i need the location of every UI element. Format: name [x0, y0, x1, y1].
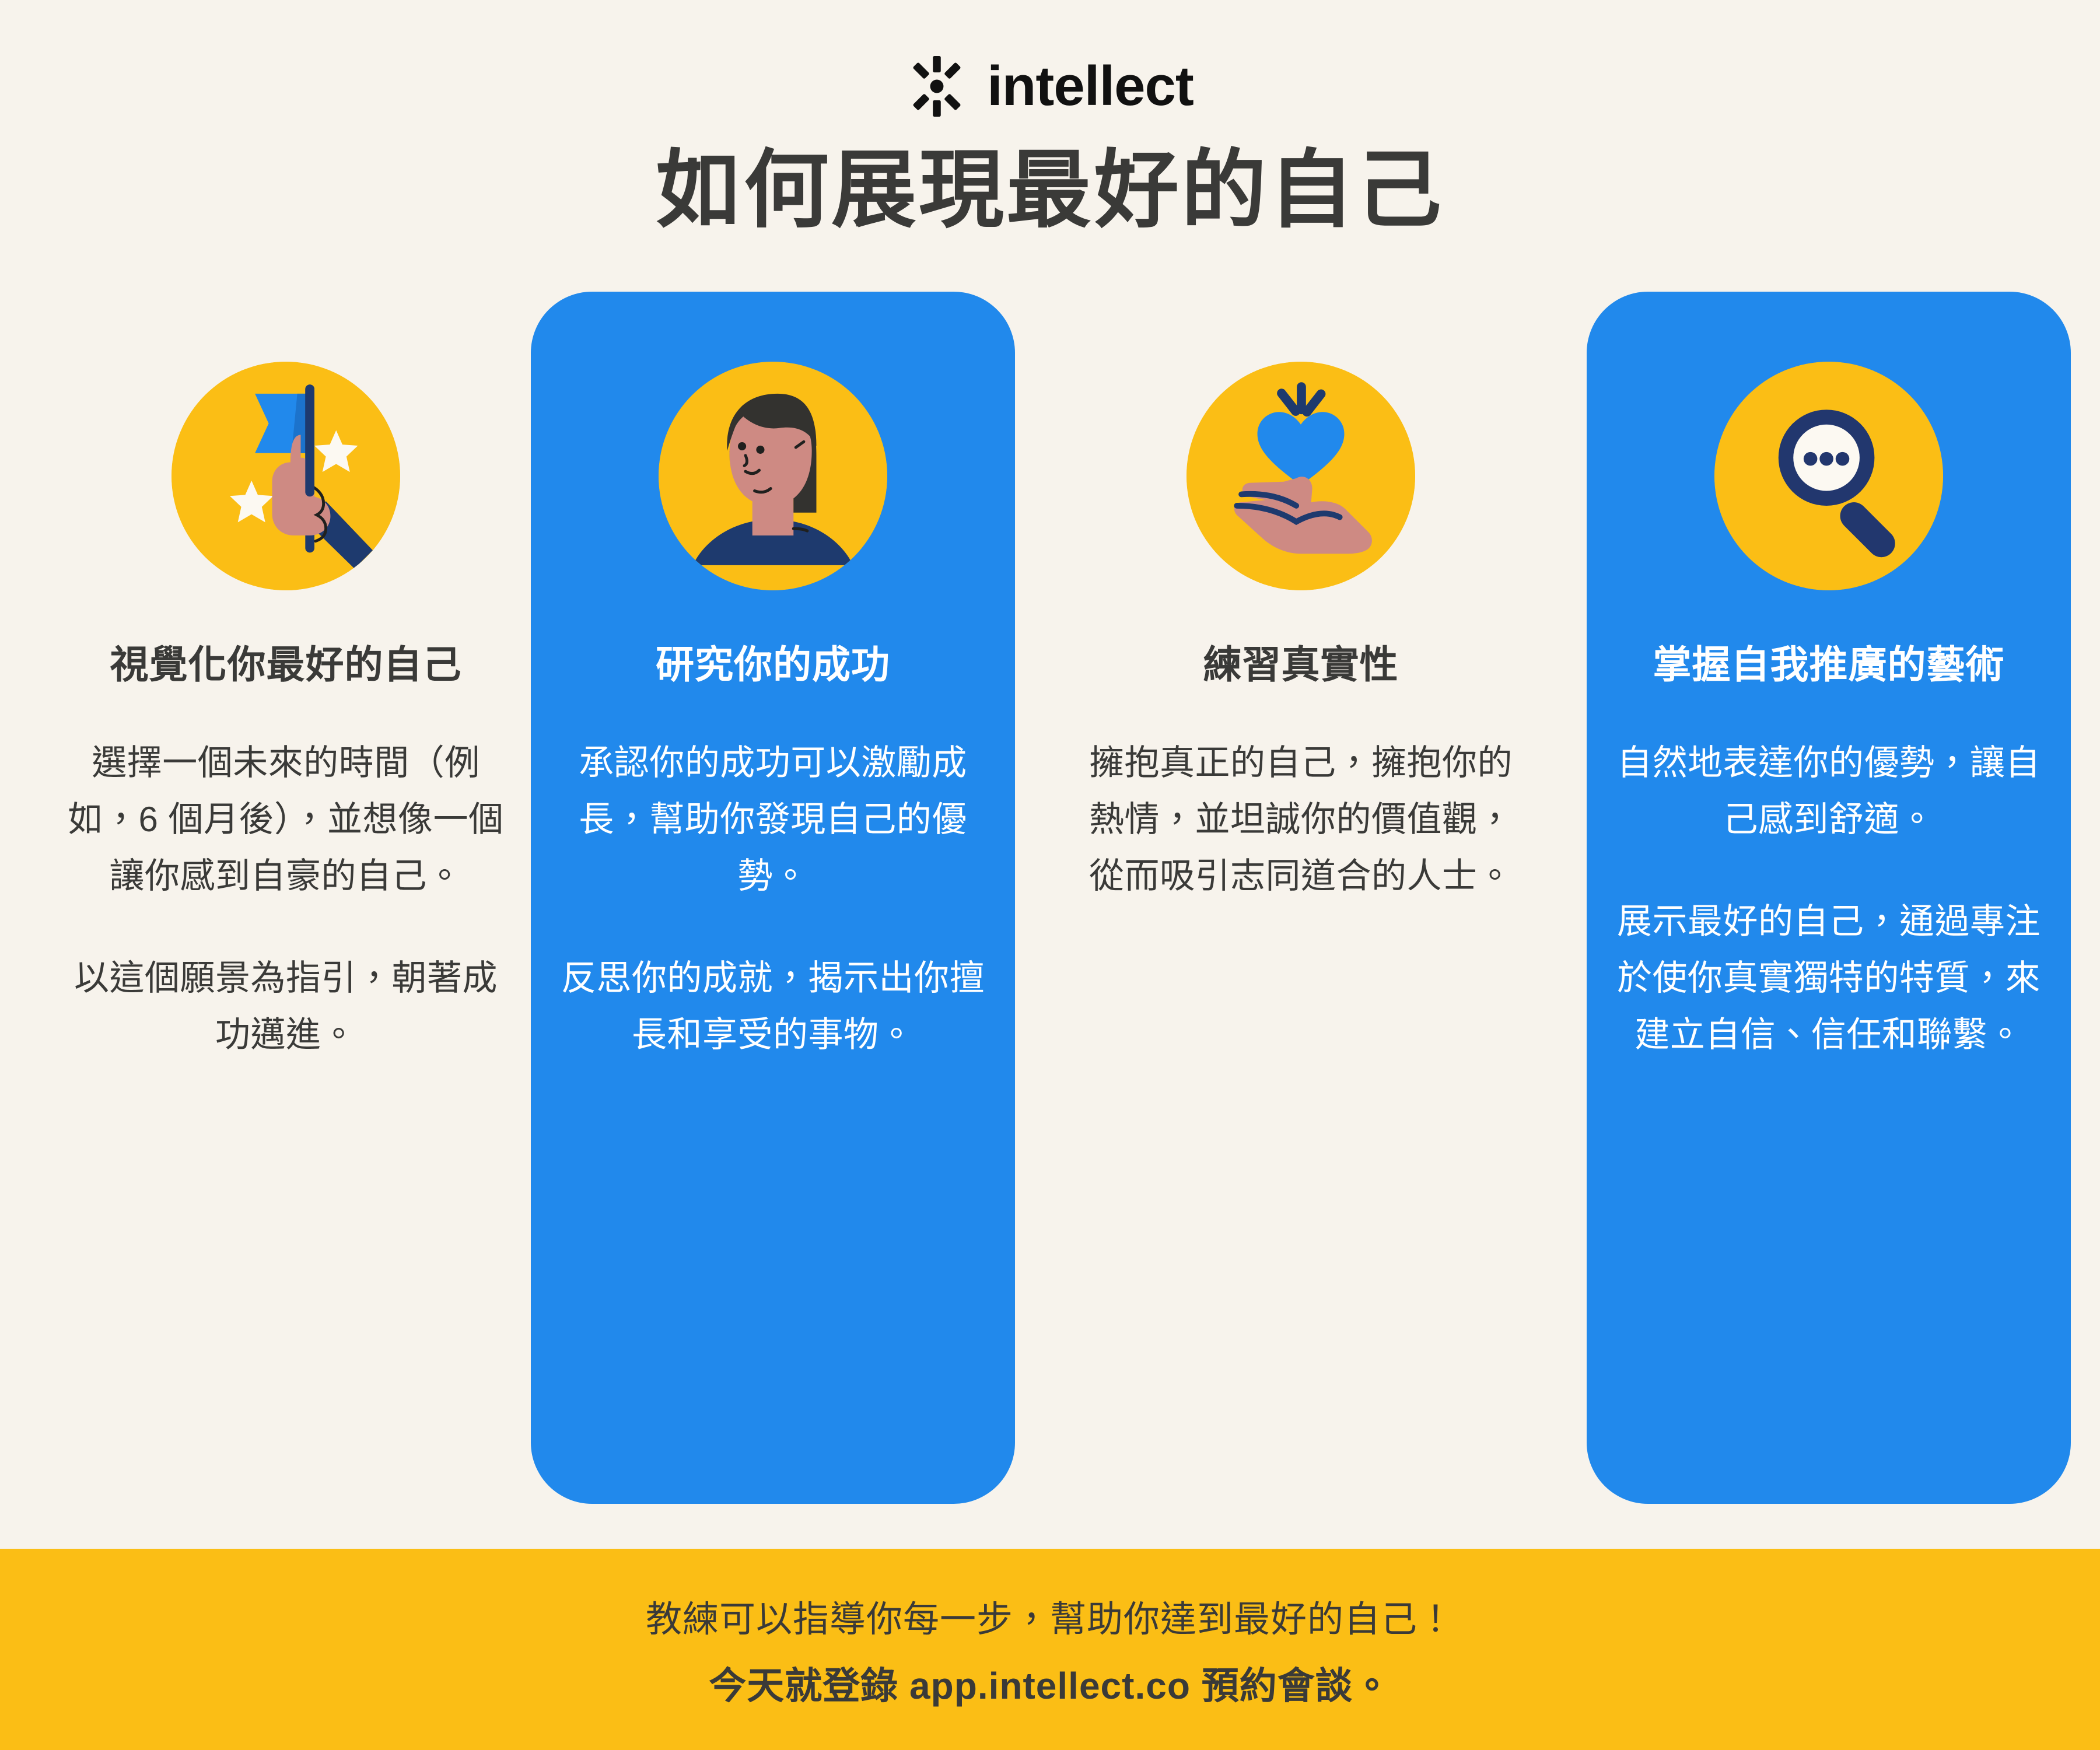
column-body: 擁抱真正的自己，擁抱你的熱情，並坦誠你的價值觀，從而吸引志同道合的人士。	[1082, 734, 1520, 905]
column-paragraph: 選擇一個未來的時間（例如，6 個月後），並想像一個讓你感到自豪的自己。	[67, 734, 505, 905]
brand-logo: intellect	[0, 51, 2100, 121]
page-title: 如何展現最好的自己	[0, 141, 2100, 239]
magnifying-glass-icon	[1714, 362, 1943, 590]
column-body: 選擇一個未來的時間（例如，6 個月後），並想像一個讓你感到自豪的自己。 以這個願…	[67, 734, 505, 1063]
column-paragraph: 承認你的成功可以激勵成長，幫助你發現自己的優勢。	[554, 734, 992, 905]
column-paragraph: 展示最好的自己，通過專注於使你真實獨特的特質，來建立自信、信任和聯繫。	[1610, 893, 2048, 1063]
column-heading: 掌握自我推廣的藝術	[1653, 640, 2005, 689]
column-authenticity: 練習真實性 擁抱真正的自己，擁抱你的熱情，並坦誠你的價值觀，從而吸引志同道合的人…	[1059, 292, 1543, 904]
footer-cta-banner: 教練可以指導你每一步，幫助你達到最好的自己！ 今天就登錄 app.intelle…	[0, 1549, 2100, 1750]
columns-container: 視覺化你最好的自己 選擇一個未來的時間（例如，6 個月後），並想像一個讓你感到自…	[0, 292, 2100, 1511]
column-self-promotion: 掌握自我推廣的藝術 自然地表達你的優勢，讓自己感到舒適。 展示最好的自己，通過專…	[1587, 292, 2071, 1504]
hand-holding-heart-icon	[1186, 362, 1415, 590]
footer-cta-link[interactable]: 今天就登錄 app.intellect.co 預約會談。	[709, 1656, 1391, 1710]
person-portrait-icon	[659, 362, 887, 590]
column-heading: 研究你的成功	[656, 640, 890, 689]
column-paragraph: 自然地表達你的優勢，讓自己感到舒適。	[1610, 734, 2048, 848]
footer-tagline: 教練可以指導你每一步，幫助你達到最好的自己！	[646, 1590, 1454, 1642]
hand-holding-flag-icon	[171, 362, 400, 590]
column-paragraph: 反思你的成就，揭示出你擅長和享受的事物。	[554, 950, 992, 1063]
column-paragraph: 以這個願景為指引，朝著成功邁進。	[67, 950, 505, 1063]
column-body: 自然地表達你的優勢，讓自己感到舒適。 展示最好的自己，通過專注於使你真實獨特的特…	[1610, 734, 2048, 1063]
column-visualize: 視覺化你最好的自己 選擇一個未來的時間（例如，6 個月後），並想像一個讓你感到自…	[44, 292, 528, 1063]
column-heading: 練習真實性	[1203, 640, 1399, 689]
column-heading: 視覺化你最好的自己	[110, 640, 462, 689]
brand-wordmark: intellect	[987, 58, 1193, 114]
column-study-success: 研究你的成功 承認你的成功可以激勵成長，幫助你發現自己的優勢。 反思你的成就，揭…	[531, 292, 1015, 1504]
column-paragraph: 擁抱真正的自己，擁抱你的熱情，並坦誠你的價值觀，從而吸引志同道合的人士。	[1082, 734, 1520, 905]
column-body: 承認你的成功可以激勵成長，幫助你發現自己的優勢。 反思你的成就，揭示出你擅長和享…	[554, 734, 992, 1063]
page-header: intellect 如何展現最好的自己	[0, 0, 2100, 239]
intellect-starburst-icon	[907, 56, 967, 117]
